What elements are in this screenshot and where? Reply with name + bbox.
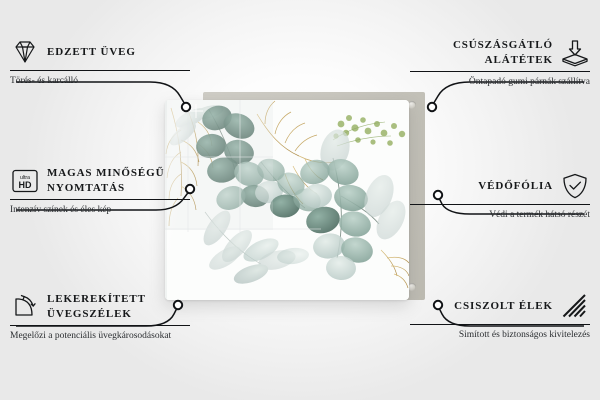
infographic-canvas: EDZETT ÜVEG Törés- és karcálló ultra HD … [0, 0, 600, 400]
divider [410, 71, 590, 72]
mounting-hole-bottom-right [408, 283, 416, 291]
feature-description: Törés- és karcálló [10, 75, 190, 88]
feature-high-quality-print: ultra HD MAGAS MINŐSÉGŰ NYOMTATÁS Intenz… [10, 166, 190, 217]
divider [10, 70, 190, 71]
feature-sanded-edges: CSISZOLT ÉLEK Simított és biztonságos ki… [410, 292, 590, 342]
divider [410, 204, 590, 205]
press-pad-icon [560, 39, 590, 67]
mounting-hole-top-right [408, 101, 416, 109]
divider [410, 324, 590, 325]
rounded-corner-icon [10, 293, 40, 321]
glass-panel [165, 100, 409, 300]
botanical-artwork [165, 100, 409, 300]
feature-title: MAGAS MINŐSÉGŰ NYOMTATÁS [47, 166, 190, 195]
feature-title: CSISZOLT ÉLEK [454, 299, 553, 314]
feature-description: Simított és biztonságos kivitelezés [410, 329, 590, 342]
feature-title: VÉDŐFÓLIA [478, 179, 553, 194]
feature-description: Védi a termék hátsó részét [410, 209, 590, 222]
diamond-icon [10, 38, 40, 66]
feature-title: LEKEREKÍTETT ÜVEGSZÉLEK [47, 292, 190, 321]
shield-check-icon [560, 172, 590, 200]
feature-title: CSÚSZÁSGÁTLÓ ALÁTÉTEK [410, 38, 553, 67]
hatched-triangle-icon [560, 292, 590, 320]
feature-tempered-glass: EDZETT ÜVEG Törés- és karcálló [10, 38, 190, 88]
feature-protective-film: VÉDŐFÓLIA Védi a termék hátsó részét [410, 172, 590, 222]
divider [10, 325, 190, 326]
divider [10, 199, 190, 200]
feature-description: Intenzív színek és éles kép [10, 204, 190, 217]
feature-rounded-edges: LEKEREKÍTETT ÜVEGSZÉLEK Megelőzi a poten… [10, 292, 190, 343]
feature-description: Megelőzi a potenciális üvegkárosodásokat [10, 330, 190, 343]
product-image [165, 92, 435, 310]
feature-anti-slip-pads: CSÚSZÁSGÁTLÓ ALÁTÉTEK Öntapadó gumi párn… [410, 38, 590, 89]
ultra-hd-icon: ultra HD [10, 167, 40, 195]
svg-text:HD: HD [19, 180, 32, 190]
feature-description: Öntapadó gumi párnák szállítva [410, 76, 590, 89]
feature-title: EDZETT ÜVEG [47, 45, 136, 60]
